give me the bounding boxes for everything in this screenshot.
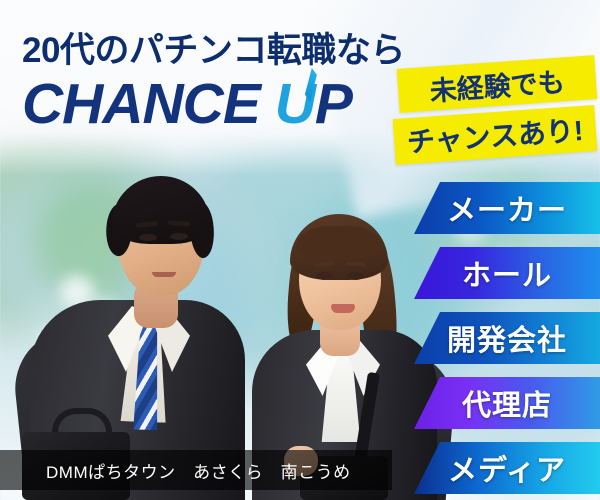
logo-part-one: CHANCE bbox=[22, 72, 275, 136]
category-button-media[interactable]: メディア bbox=[414, 442, 600, 494]
caption-bar: DMMぱちタウン あさくら 南こうめ bbox=[0, 450, 392, 490]
woman-mouth bbox=[331, 304, 355, 313]
caption-text: DMMぱちタウン あさくら 南こうめ bbox=[0, 458, 351, 483]
logo-letter-u: U bbox=[275, 76, 315, 133]
category-button-hall[interactable]: ホール bbox=[414, 247, 600, 299]
chance-up-logo: CHANCE UP bbox=[22, 76, 352, 133]
woman-eye-right bbox=[347, 272, 364, 280]
promo-line-2: チャンスあり! bbox=[393, 105, 598, 165]
promo-line-1: 未経験でも bbox=[397, 55, 598, 113]
category-button-agency[interactable]: 代理店 bbox=[414, 377, 600, 429]
promo-banner: 20代のパチンコ転職なら CHANCE UP 未経験でも チャンスあり! メーカ… bbox=[0, 0, 600, 500]
promo-badge: 未経験でも チャンスあり! bbox=[392, 60, 600, 165]
man-eye-right bbox=[170, 233, 188, 240]
headline-text: 20代のパチンコ転職なら bbox=[22, 22, 405, 73]
category-button-developer[interactable]: 開発会社 bbox=[414, 312, 600, 364]
category-button-maker[interactable]: メーカー bbox=[414, 182, 600, 234]
woman-eye-left bbox=[316, 272, 333, 280]
man-mouth bbox=[152, 272, 176, 277]
logo-part-two: P bbox=[315, 72, 352, 136]
woman-fringe bbox=[296, 226, 382, 260]
man-eye-left bbox=[139, 234, 157, 241]
